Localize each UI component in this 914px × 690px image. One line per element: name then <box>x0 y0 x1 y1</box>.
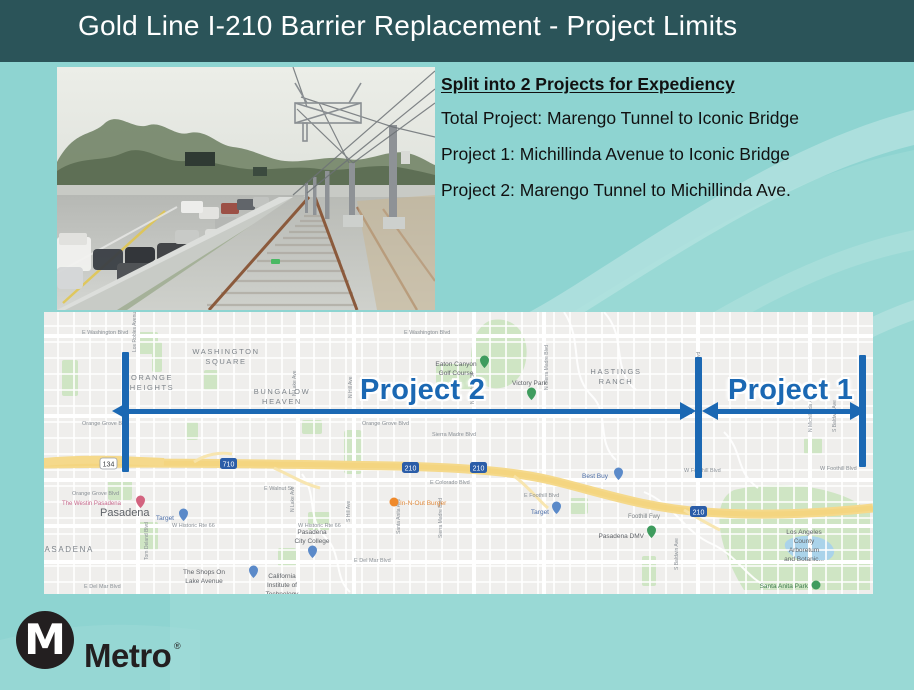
svg-text:E Washington Blvd: E Washington Blvd <box>404 330 450 336</box>
svg-text:Los Robles Avenue: Los Robles Avenue <box>132 312 138 352</box>
svg-text:E Foothill Blvd: E Foothill Blvd <box>524 493 559 499</box>
svg-text:ORANGE: ORANGE <box>131 373 173 382</box>
svg-text:California: California <box>268 573 296 580</box>
textblock-line-total: Total Project: Marengo Tunnel to Iconic … <box>441 108 907 129</box>
project-2-label: Project 2 <box>360 374 485 407</box>
svg-text:Eaton Canyon: Eaton Canyon <box>435 361 477 368</box>
slide: Gold Line I-210 Barrier Replacement - Pr… <box>0 0 914 690</box>
svg-text:210: 210 <box>473 466 485 473</box>
svg-text:W Foothill Blvd: W Foothill Blvd <box>684 468 721 474</box>
svg-text:E Del Mar Blvd: E Del Mar Blvd <box>354 558 391 564</box>
svg-text:RANCH: RANCH <box>599 377 634 386</box>
svg-text:Lake Avenue: Lake Avenue <box>185 578 223 585</box>
svg-text:Pasadena: Pasadena <box>297 529 327 536</box>
svg-text:E Walnut St: E Walnut St <box>264 486 293 492</box>
svg-text:Institute of: Institute of <box>267 582 297 589</box>
project-description-block: Split into 2 Projects for Expediency Tot… <box>441 74 907 216</box>
svg-text:Sierra Madre Blvd: Sierra Madre Blvd <box>432 432 476 438</box>
svg-text:Target: Target <box>531 509 549 516</box>
header-bar: Gold Line I-210 Barrier Replacement - Pr… <box>0 0 914 62</box>
project-2-arrow-west <box>112 402 128 420</box>
svg-text:S Baldwin Ave: S Baldwin Ave <box>674 538 680 570</box>
project-1-span-line <box>712 409 860 414</box>
svg-text:In-N-Out Burger: In-N-Out Burger <box>400 500 447 507</box>
svg-text:Victory Park: Victory Park <box>512 380 548 387</box>
svg-text:WASHINGTON: WASHINGTON <box>192 347 259 356</box>
svg-text:and Botanic...: and Botanic... <box>784 556 824 563</box>
project-limit-bar-michillinda <box>695 357 702 478</box>
svg-text:Pasadena: Pasadena <box>100 507 150 519</box>
svg-text:N Hill Ave: N Hill Ave <box>348 376 354 398</box>
svg-text:210: 210 <box>405 466 417 473</box>
svg-text:County: County <box>794 538 815 545</box>
svg-text:W Foothill Blvd: W Foothill Blvd <box>820 466 857 472</box>
project-2-span-line <box>126 409 692 414</box>
svg-text:W Historic Rte 66: W Historic Rte 66 <box>172 523 215 529</box>
project-photo <box>57 67 435 310</box>
svg-text:BUNGALOW: BUNGALOW <box>254 387 311 396</box>
project-limits-map: 134 710 210 210 210 E Washington Blvd E … <box>44 312 873 594</box>
svg-text:S Hill Ave: S Hill Ave <box>346 500 352 522</box>
svg-text:Best Buy: Best Buy <box>582 473 609 480</box>
metro-registered-mark: ® <box>174 641 181 651</box>
svg-text:710: 710 <box>223 462 235 469</box>
textblock-line-project2: Project 2: Marengo Tunnel to Michillinda… <box>441 180 907 201</box>
svg-text:N Lake Ave: N Lake Ave <box>290 486 296 512</box>
svg-text:PASADENA: PASADENA <box>44 545 94 554</box>
svg-text:E Colorado Blvd: E Colorado Blvd <box>430 480 470 486</box>
svg-text:Technology: Technology <box>266 591 300 594</box>
svg-text:HEAVEN: HEAVEN <box>262 397 302 406</box>
svg-text:210: 210 <box>693 510 705 517</box>
svg-text:Target: Target <box>156 515 174 522</box>
project-1-arrow-west <box>702 402 718 420</box>
svg-text:Tom Deland Blvd: Tom Deland Blvd <box>144 522 150 560</box>
project-1-label: Project 1 <box>728 374 853 407</box>
svg-text:Orange Grove Blvd: Orange Grove Blvd <box>72 491 119 497</box>
svg-text:Orange Grove Blvd: Orange Grove Blvd <box>362 421 409 427</box>
metro-logo-m-letter: M <box>16 611 74 669</box>
svg-text:Foothill Fwy: Foothill Fwy <box>628 514 660 520</box>
svg-text:HASTINGS: HASTINGS <box>590 367 641 376</box>
project-2-arrow-east <box>680 402 696 420</box>
page-title: Gold Line I-210 Barrier Replacement - Pr… <box>78 10 737 42</box>
svg-text:The Shops On: The Shops On <box>183 569 225 576</box>
svg-text:Arboretum: Arboretum <box>789 547 819 554</box>
map-graphic: 134 710 210 210 210 E Washington Blvd E … <box>44 312 873 594</box>
svg-text:E Del Mar Blvd: E Del Mar Blvd <box>84 584 121 590</box>
svg-text:HEIGHTS: HEIGHTS <box>130 383 175 392</box>
textblock-heading: Split into 2 Projects for Expediency <box>441 74 907 95</box>
metro-wordmark: Metro <box>84 637 171 675</box>
svg-text:SQUARE: SQUARE <box>205 357 246 366</box>
svg-text:City College: City College <box>294 538 329 545</box>
svg-text:Los Angeles: Los Angeles <box>786 529 822 536</box>
svg-text:E Washington Blvd: E Washington Blvd <box>82 330 128 336</box>
textblock-line-project1: Project 1: Michillinda Avenue to Iconic … <box>441 144 907 165</box>
svg-text:134: 134 <box>103 462 115 469</box>
svg-text:Pasadena DMV: Pasadena DMV <box>598 533 644 540</box>
svg-text:Santa Anita Park: Santa Anita Park <box>760 583 809 590</box>
